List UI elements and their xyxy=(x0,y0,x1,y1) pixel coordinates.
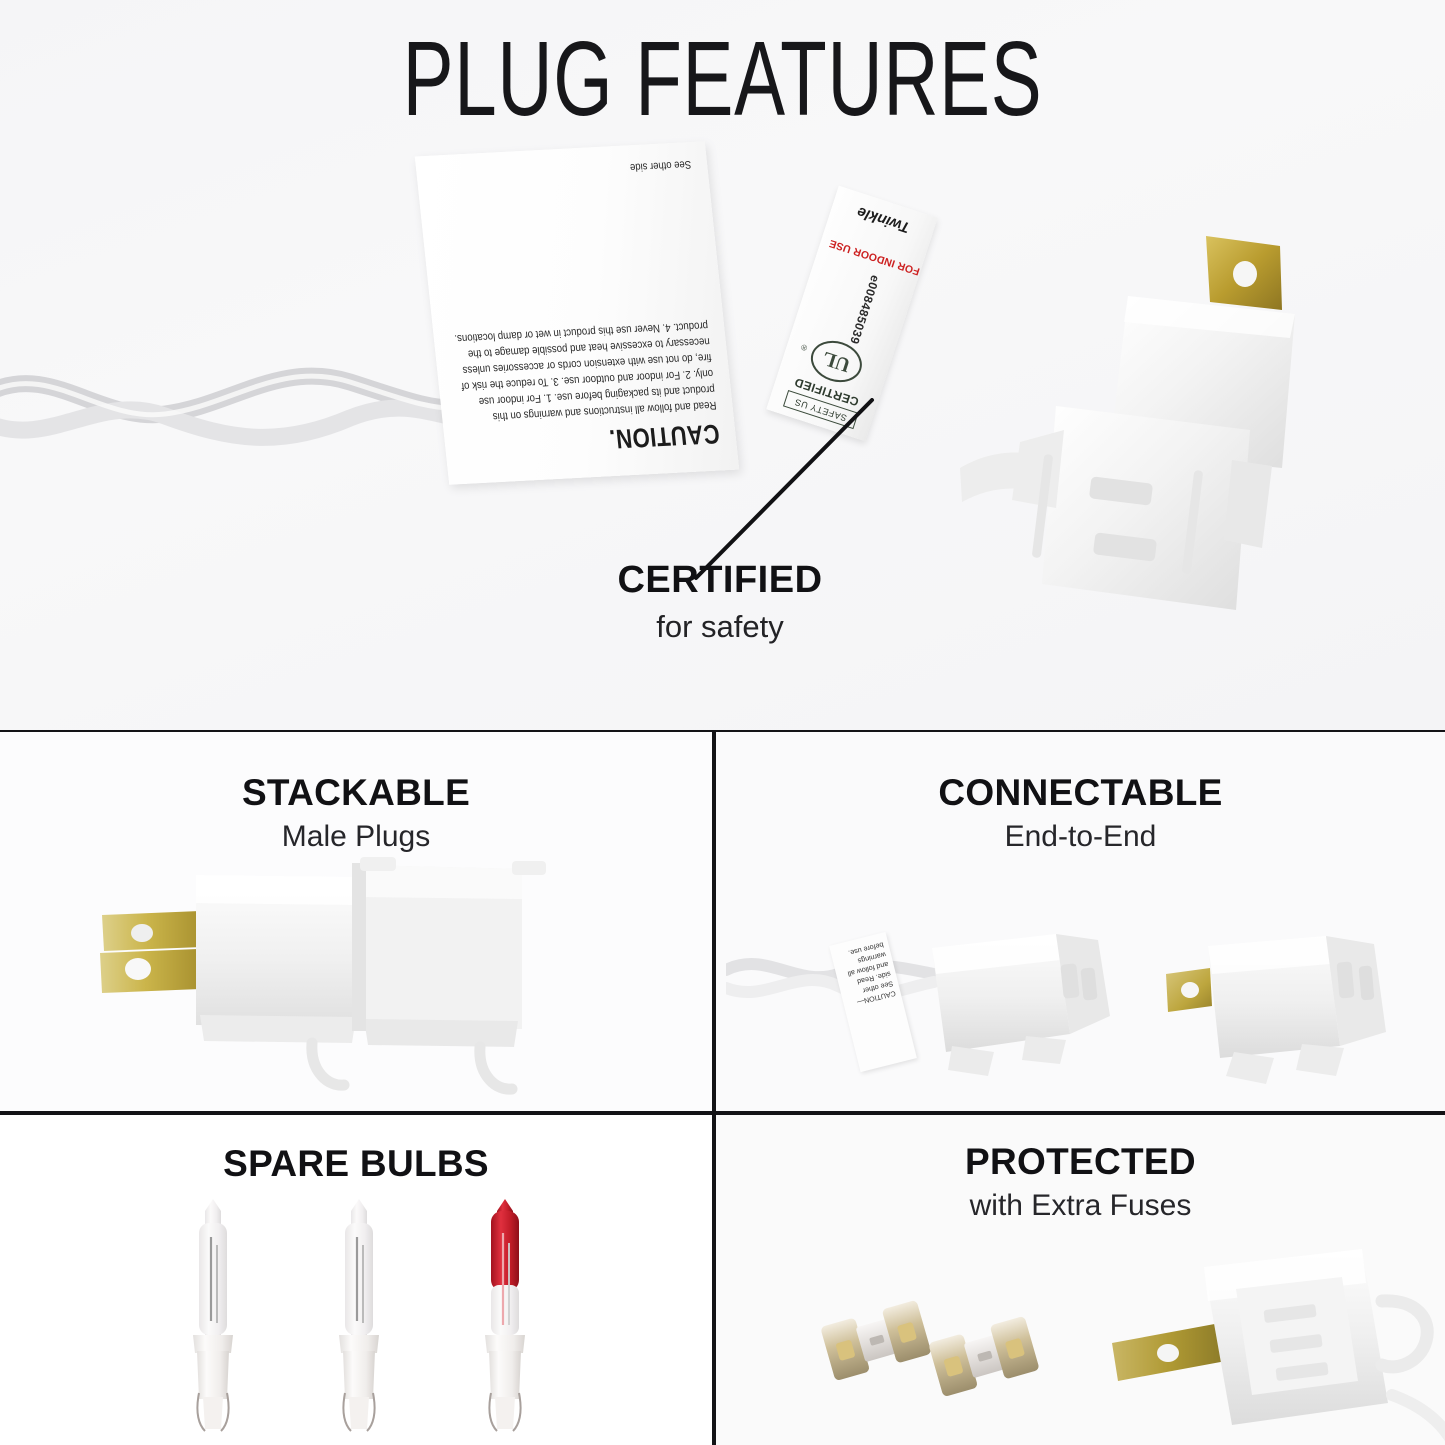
quadrant-protected: PROTECTED with Extra Fuses xyxy=(716,1115,1445,1445)
caution-body-text: Read and follow all instructions and war… xyxy=(450,317,717,425)
quadrant-spare-bulbs: SPARE BULBS xyxy=(0,1115,712,1445)
quadrant-stackable: STACKABLE Male Plugs xyxy=(0,732,712,1111)
quadrant-title-protected: PROTECTED xyxy=(716,1141,1445,1183)
quadrant-subtitle-protected: with Extra Fuses xyxy=(716,1189,1445,1223)
quadrant-title-stackable: STACKABLE xyxy=(0,772,712,814)
callout-title: CERTIFIED xyxy=(470,560,970,602)
quadrant-subtitle-stackable: Male Plugs xyxy=(0,820,712,854)
caution-heading: CAUTION. xyxy=(506,418,721,460)
fuses-and-plug-illustration xyxy=(796,1245,1445,1445)
stacked-male-plugs-illustration xyxy=(60,847,580,1102)
page-title: PLUG FEATURES xyxy=(202,26,1242,132)
caution-tag: CAUTION. Read and follow all instruction… xyxy=(415,141,739,484)
quadrant-title-spare-bulbs: SPARE BULBS xyxy=(0,1143,712,1185)
caution-footer-text: See other side xyxy=(629,158,691,173)
twisted-cord-icon xyxy=(0,352,460,482)
certified-callout: CERTIFIED for safety xyxy=(470,560,970,644)
quadrant-title-connectable: CONNECTABLE xyxy=(716,772,1445,814)
plug-features-infographic: PLUG FEATURES CAUTION. Read and follow a… xyxy=(0,0,1445,1445)
connectable-ends-illustration xyxy=(726,912,1426,1111)
feature-quadrants: STACKABLE Male Plugs xyxy=(0,732,1445,1445)
registered-mark-icon: ® xyxy=(800,342,808,352)
ul-certification-tag: SAFETY US CERTIFIED UL ® e008485039 FOR … xyxy=(766,186,938,442)
quadrant-subtitle-connectable: End-to-End xyxy=(716,820,1445,854)
spare-bulbs-illustration xyxy=(155,1193,585,1445)
callout-subtitle: for safety xyxy=(470,610,970,644)
quadrant-connectable: CAUTION— See other side. Read and follow… xyxy=(716,732,1445,1111)
hero-panel: PLUG FEATURES CAUTION. Read and follow a… xyxy=(0,0,1445,732)
male-plug-illustration xyxy=(960,218,1330,638)
